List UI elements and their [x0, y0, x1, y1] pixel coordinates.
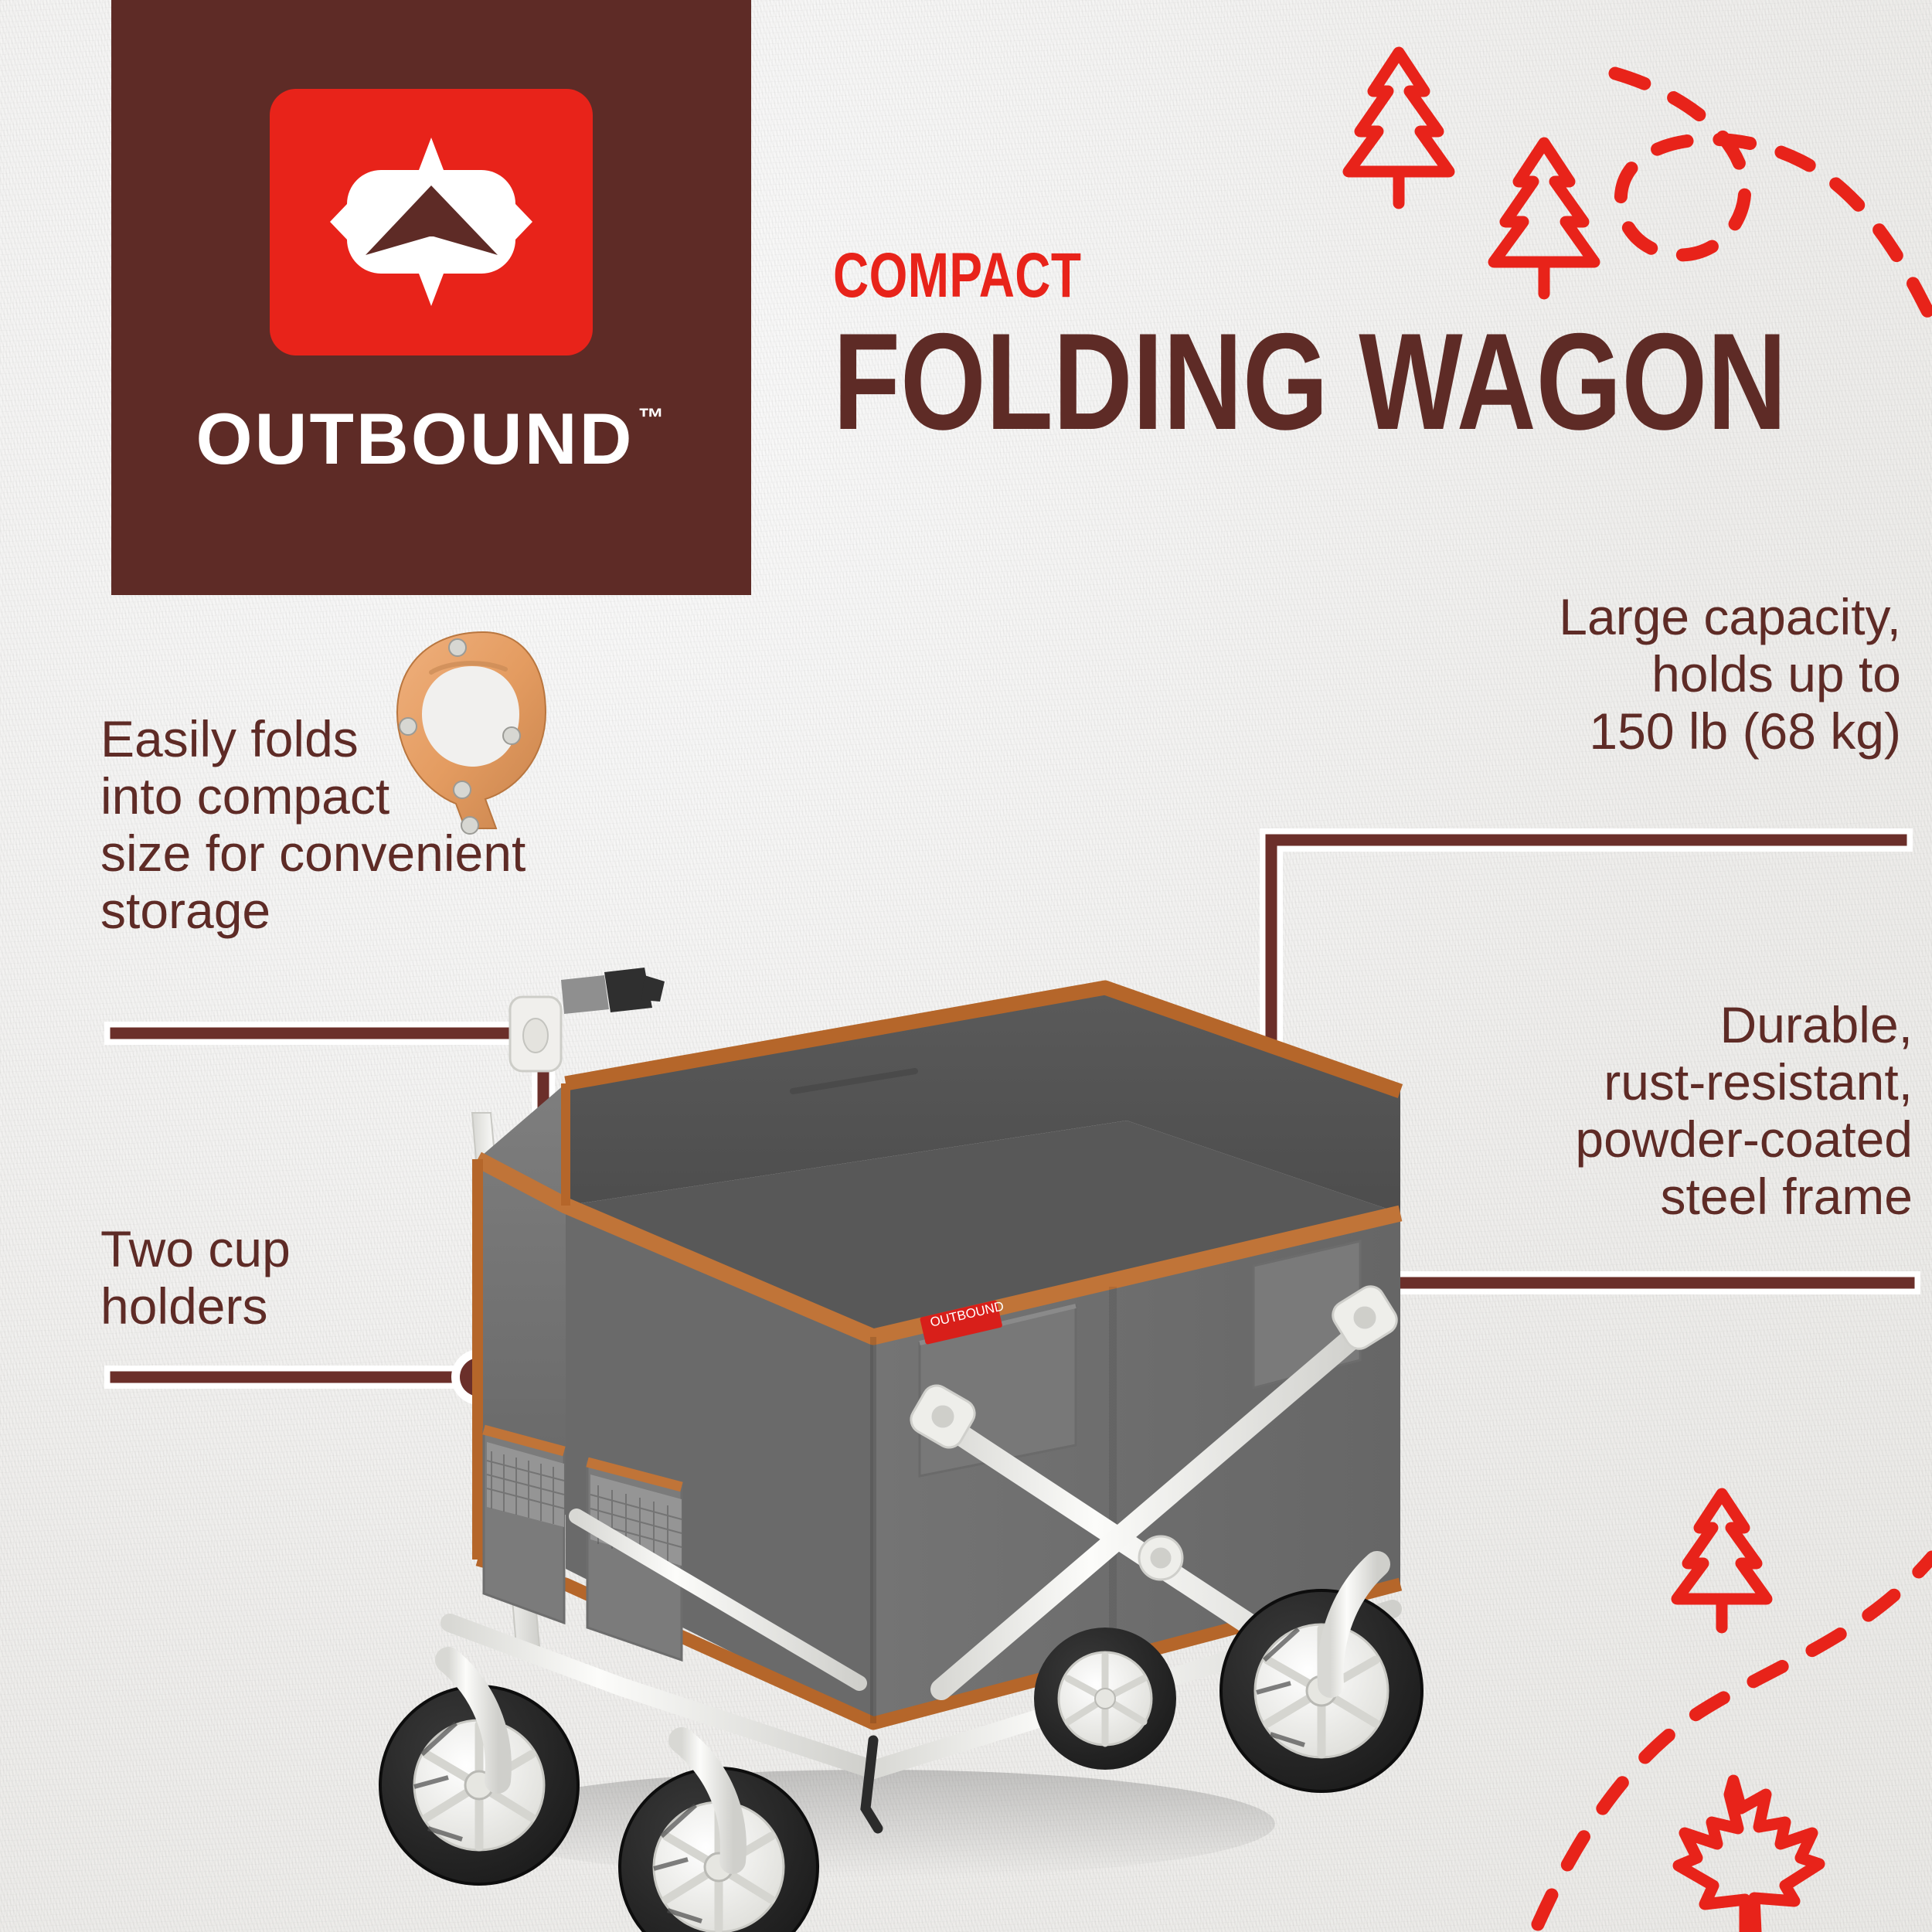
callout-line: Durable,: [1325, 997, 1913, 1054]
wheel: [380, 1660, 578, 1884]
callout-line: steel frame: [1325, 1168, 1913, 1226]
headline-eyebrow: COMPACT: [833, 246, 1677, 305]
callout-line: into compact: [100, 768, 595, 825]
strap-buckle: [561, 968, 665, 1014]
brand-panel: OUTBOUND ™: [111, 0, 751, 595]
callout-line: holds up to: [1314, 646, 1901, 703]
callout-line: holders: [100, 1278, 471, 1335]
page-title: COMPACT FOLDING WAGON: [833, 246, 1915, 447]
wheel: [1034, 1628, 1176, 1770]
outbound-logo-icon: [270, 89, 593, 355]
callout-line: Two cup: [100, 1221, 471, 1278]
headline-title: FOLDING WAGON: [833, 316, 1699, 447]
brand-wordmark: OUTBOUND ™: [196, 397, 666, 481]
callout-line: size for convenient: [100, 825, 595, 883]
callout-line: powder-coated: [1325, 1111, 1913, 1168]
callout-two-cup-holders: Two cup holders: [100, 1221, 471, 1335]
trademark-symbol: ™: [638, 405, 667, 431]
callout-line: storage: [100, 883, 595, 940]
callout-easily-folds: Easily folds into compact size for conve…: [100, 711, 595, 940]
callout-line: Easily folds: [100, 711, 595, 768]
wheel: [620, 1740, 818, 1932]
callout-line: rust-resistant,: [1325, 1054, 1913, 1111]
callout-durable-frame: Durable, rust-resistant, powder-coated s…: [1325, 997, 1913, 1226]
brand-name: OUTBOUND: [196, 397, 634, 481]
callout-line: 150 lb (68 kg): [1314, 703, 1901, 760]
callout-large-capacity: Large capacity, holds up to 150 lb (68 k…: [1314, 589, 1901, 760]
callout-line: Large capacity,: [1314, 589, 1901, 646]
